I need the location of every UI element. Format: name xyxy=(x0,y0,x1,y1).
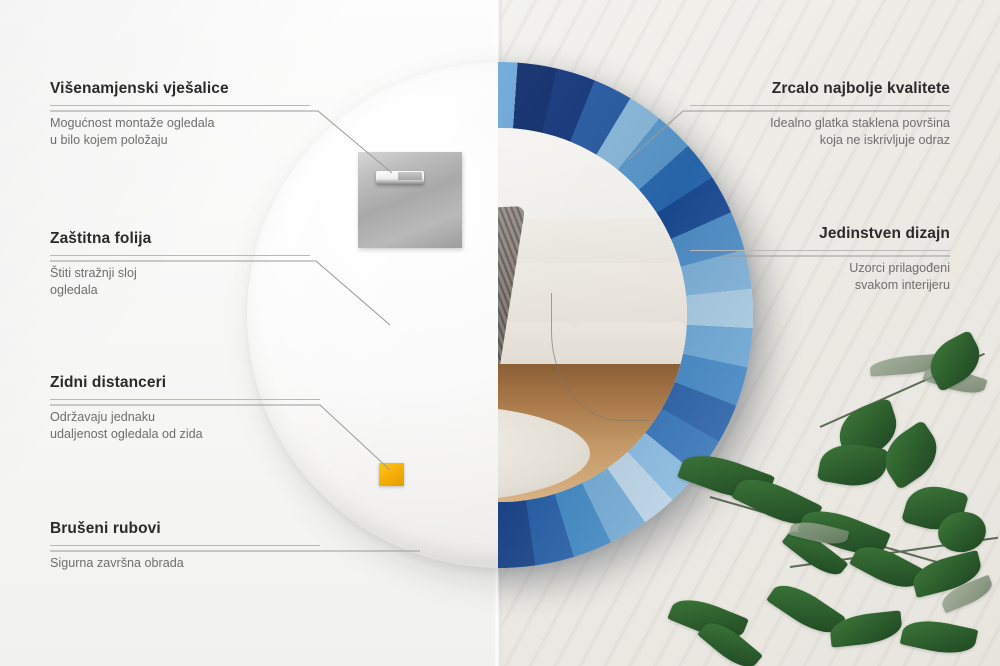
callout-body: Idealno glatka staklena površina koja ne… xyxy=(690,115,950,148)
callout-bruseni-rubovi: Brušeni rubovi Sigurna završna obrada xyxy=(50,520,320,572)
wall-hanger-plate-icon xyxy=(358,152,462,248)
callout-title: Brušeni rubovi xyxy=(50,520,320,538)
callout-zastitna-folija: Zaštitna folija Štiti stražnji sloj ogle… xyxy=(50,230,310,298)
callout-body: Štiti stražnji sloj ogledala xyxy=(50,265,310,298)
callout-visenamjenski-vjesalice: Višenamjenski vješalice Mogućnost montaž… xyxy=(50,80,310,148)
callout-rule xyxy=(690,105,950,106)
mirror-glass-reflection xyxy=(498,128,687,502)
callout-rule xyxy=(690,250,950,251)
callout-body: Održavaju jednaku udaljenost ogledala od… xyxy=(50,409,320,442)
callout-title: Višenamjenski vješalice xyxy=(50,80,310,98)
callout-zrcalo-najbolje-kvalitete: Zrcalo najbolje kvalitete Idealno glatka… xyxy=(690,80,950,148)
callout-body: Uzorci prilagođeni svakom interijeru xyxy=(690,260,950,293)
hanger-slot-shadow xyxy=(398,172,422,180)
callout-title: Zaštitna folija xyxy=(50,230,310,248)
wall-spacer-icon xyxy=(379,463,404,486)
infographic-canvas: Višenamjenski vješalice Mogućnost montaž… xyxy=(0,0,1000,666)
callout-zidni-distanceri: Zidni distanceri Održavaju jednaku udalj… xyxy=(50,374,320,442)
callout-rule xyxy=(50,399,320,400)
callout-rule xyxy=(50,105,310,106)
callout-jedinstven-dizajn: Jedinstven dizajn Uzorci prilagođeni sva… xyxy=(690,225,950,293)
callout-body: Sigurna završna obrada xyxy=(50,555,320,572)
callout-title: Zidni distanceri xyxy=(50,374,320,392)
leaf xyxy=(900,615,979,660)
callout-body: Mogućnost montaže ogledala u bilo kojem … xyxy=(50,115,310,148)
callout-title: Jedinstven dizajn xyxy=(690,225,950,243)
callout-title: Zrcalo najbolje kvalitete xyxy=(690,80,950,98)
callout-rule xyxy=(50,255,310,256)
callout-rule xyxy=(50,545,320,546)
foliage-decoration xyxy=(670,336,1000,666)
